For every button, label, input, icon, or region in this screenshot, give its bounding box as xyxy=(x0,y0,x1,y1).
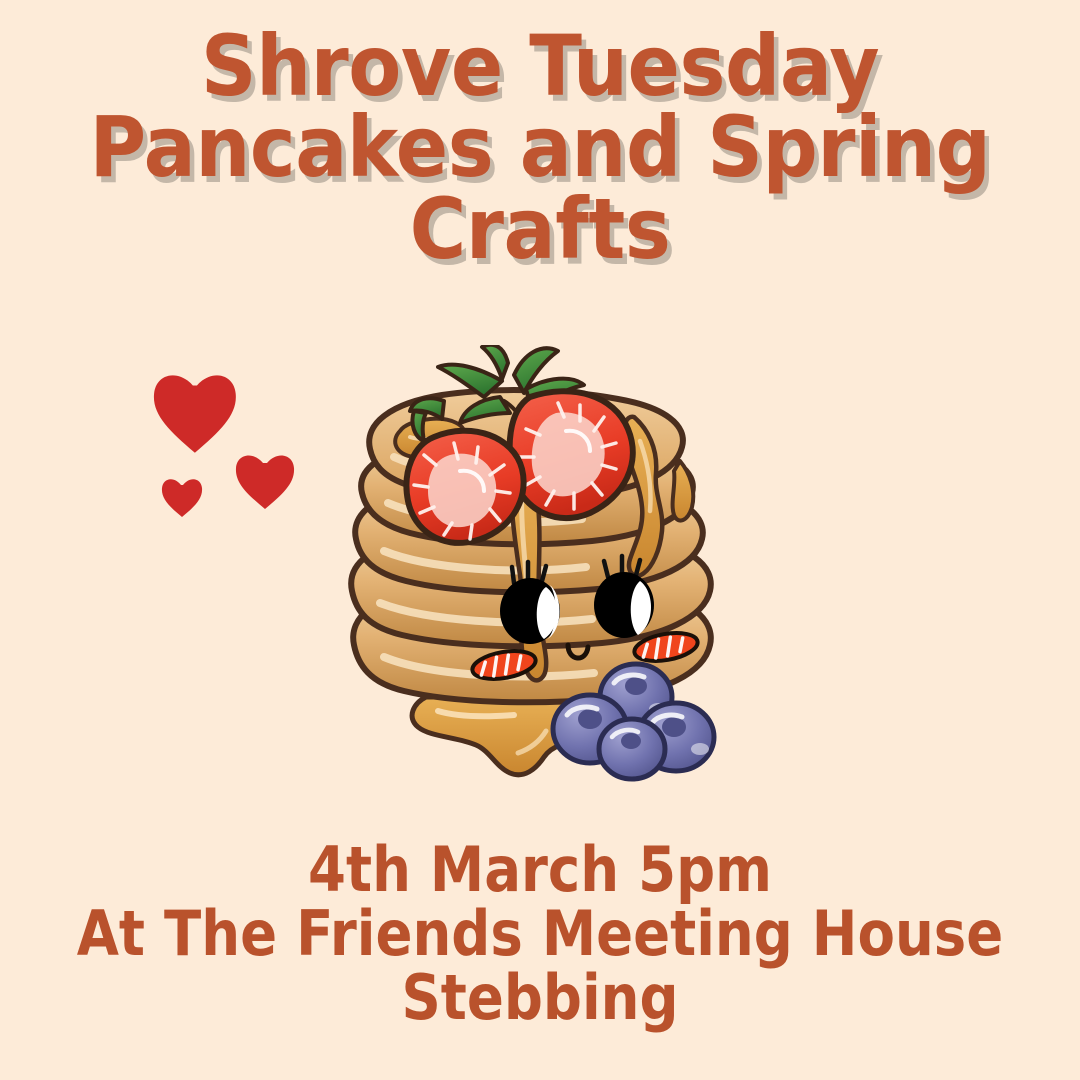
event-datetime: 4th March 5pm xyxy=(65,838,1015,902)
event-location: Stebbing xyxy=(65,966,1015,1030)
strawberry-half-left xyxy=(406,431,523,543)
heart-icon-medium xyxy=(236,456,294,509)
hearts-decoration xyxy=(140,355,320,530)
eye-left xyxy=(500,578,560,644)
eye-right xyxy=(594,572,654,638)
event-venue: At The Friends Meeting House xyxy=(65,902,1015,966)
title-line-1: Shrove Tuesday xyxy=(43,26,1037,107)
poster-canvas: Shrove Tuesday Pancakes and Spring Craft… xyxy=(0,0,1080,1080)
pancake-stack-icon xyxy=(318,345,758,795)
blueberry-4 xyxy=(599,719,665,779)
event-details: 4th March 5pm At The Friends Meeting Hou… xyxy=(0,838,1080,1030)
heart-icon-small xyxy=(162,479,202,517)
title-line-2: Pancakes and Spring xyxy=(43,107,1037,188)
strawberry-half-right xyxy=(510,391,633,518)
heart-icon-large xyxy=(154,375,236,452)
title-line-3: Crafts xyxy=(43,189,1037,270)
page-title: Shrove Tuesday Pancakes and Spring Craft… xyxy=(0,26,1080,270)
